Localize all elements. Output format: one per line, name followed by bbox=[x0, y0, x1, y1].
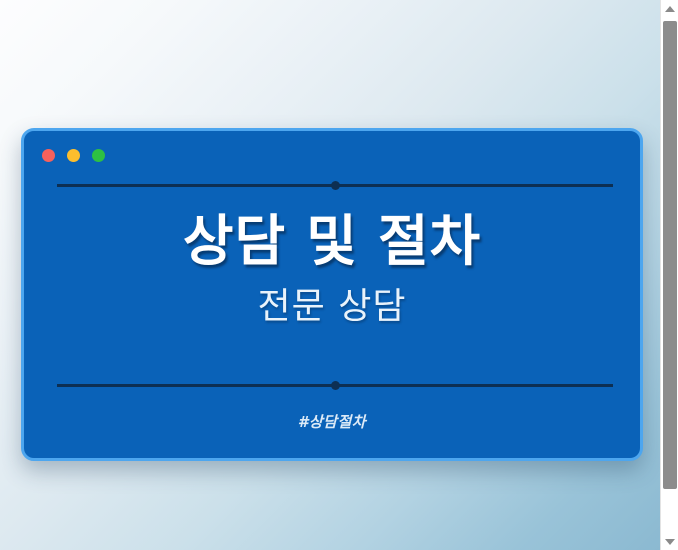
viewport: 상담 및 절차 전문 상담 #상담절차 bbox=[0, 0, 678, 550]
vertical-scrollbar[interactable] bbox=[660, 0, 678, 550]
close-button[interactable] bbox=[42, 149, 55, 162]
maximize-button[interactable] bbox=[92, 149, 105, 162]
slide-subtitle: 전문 상담 bbox=[258, 287, 407, 327]
divider-node-icon bbox=[331, 381, 340, 390]
divider-bottom bbox=[57, 384, 613, 387]
scroll-up-arrow-icon[interactable] bbox=[661, 0, 678, 17]
slide-hashtag: #상담절차 bbox=[24, 411, 640, 432]
slide-text-block: 상담 및 절차 전문 상담 bbox=[24, 187, 640, 384]
slide-card[interactable]: 상담 및 절차 전문 상담 #상담절차 bbox=[21, 128, 643, 461]
window-controls bbox=[42, 149, 105, 162]
minimize-button[interactable] bbox=[67, 149, 80, 162]
scroll-down-arrow-icon[interactable] bbox=[661, 533, 678, 550]
slide-title: 상담 및 절차 bbox=[183, 213, 481, 271]
scrollbar-thumb[interactable] bbox=[663, 21, 677, 489]
